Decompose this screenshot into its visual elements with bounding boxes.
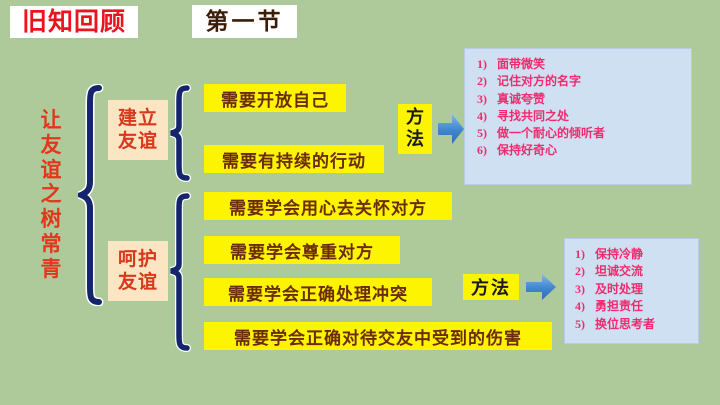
section-label: 第一节 <box>192 5 297 38</box>
category-label-line: 友谊 <box>118 130 158 153</box>
right-arrow-icon-2 <box>525 272 557 302</box>
right-arrow-icon-1 <box>437 112 465 146</box>
result-item-text: 面带微笑 <box>497 57 545 71</box>
result-item: 3)及时处理 <box>575 281 698 298</box>
result-item-text: 记住对方的名字 <box>497 74 581 88</box>
result-item-text: 做一个耐心的倾听者 <box>497 126 605 140</box>
curly-brace-icon-branch-2 <box>168 192 192 352</box>
point-box: 需要学会正确对待交友中受到的伤害 <box>204 322 552 350</box>
result-item: 4)寻找共同之处 <box>477 108 691 125</box>
result-item-number: 3) <box>477 91 497 108</box>
category-box-establish-friendship: 建立 友谊 <box>108 100 168 160</box>
category-box-care-friendship: 呵护 友谊 <box>108 241 168 301</box>
result-item-number: 3) <box>575 281 595 298</box>
result-item-text: 真诚夸赞 <box>497 92 545 106</box>
result-item-number: 2) <box>575 263 595 280</box>
result-item-text: 保持冷静 <box>595 247 643 261</box>
result-item: 5)做一个耐心的倾听者 <box>477 125 691 142</box>
root-title-char: 常 <box>36 232 66 257</box>
result-item: 6)保持好奇心 <box>477 142 691 159</box>
point-box: 需要开放自己 <box>204 84 346 112</box>
result-item-number: 4) <box>477 108 497 125</box>
curly-brace-icon-branch-1 <box>168 84 192 182</box>
category-label-line: 呵护 <box>118 248 158 271</box>
root-title: 让 友 谊 之 树 常 青 <box>36 108 66 281</box>
root-title-char: 友 <box>36 133 66 158</box>
root-title-char: 之 <box>36 182 66 207</box>
result-item-number: 5) <box>477 125 497 142</box>
root-title-char: 树 <box>36 207 66 232</box>
result-item-number: 6) <box>477 142 497 159</box>
result-item-number: 1) <box>477 56 497 73</box>
point-box: 需要有持续的行动 <box>204 145 384 173</box>
result-item-text: 及时处理 <box>595 282 643 296</box>
curly-brace-icon-root <box>78 84 104 306</box>
result-item-text: 换位思考者 <box>595 317 655 331</box>
page-title: 旧知回顾 <box>10 6 138 38</box>
method-label-char: 方 <box>406 107 424 129</box>
result-item-text: 寻找共同之处 <box>497 109 569 123</box>
result-item-number: 1) <box>575 246 595 263</box>
slide-canvas: 旧知回顾 第一节 让 友 谊 之 树 常 青 建立 友谊 需要开放自己 需要有持… <box>0 0 720 405</box>
point-box: 需要学会正确处理冲突 <box>204 278 432 306</box>
result-item: 1)保持冷静 <box>575 246 698 263</box>
result-item: 2)坦诚交流 <box>575 263 698 280</box>
root-title-char: 青 <box>36 257 66 282</box>
method-result-box-2: 1)保持冷静 2)坦诚交流 3)及时处理 4)勇担责任 5)换位思考者 <box>564 238 699 344</box>
result-item-number: 5) <box>575 316 595 333</box>
method-result-box-1: 1)面带微笑 2)记住对方的名字 3)真诚夸赞 4)寻找共同之处 5)做一个耐心… <box>464 48 692 185</box>
result-item-text: 勇担责任 <box>595 299 643 313</box>
category-label-line: 建立 <box>118 107 158 130</box>
result-item-text: 坦诚交流 <box>595 264 643 278</box>
category-label-line: 友谊 <box>118 271 158 294</box>
result-item: 2)记住对方的名字 <box>477 73 691 90</box>
result-item: 4)勇担责任 <box>575 298 698 315</box>
method-label-2: 方法 <box>463 274 519 300</box>
point-box: 需要学会用心去关怀对方 <box>204 192 452 220</box>
method-label-1: 方 法 <box>398 104 432 154</box>
result-item: 3)真诚夸赞 <box>477 91 691 108</box>
result-item: 5)换位思考者 <box>575 316 698 333</box>
result-item-text: 保持好奇心 <box>497 143 557 157</box>
method-label-char: 法 <box>406 129 424 151</box>
result-item-number: 4) <box>575 298 595 315</box>
root-title-char: 让 <box>36 108 66 133</box>
result-item-number: 2) <box>477 73 497 90</box>
result-item: 1)面带微笑 <box>477 56 691 73</box>
root-title-char: 谊 <box>36 158 66 183</box>
point-box: 需要学会尊重对方 <box>204 236 400 264</box>
